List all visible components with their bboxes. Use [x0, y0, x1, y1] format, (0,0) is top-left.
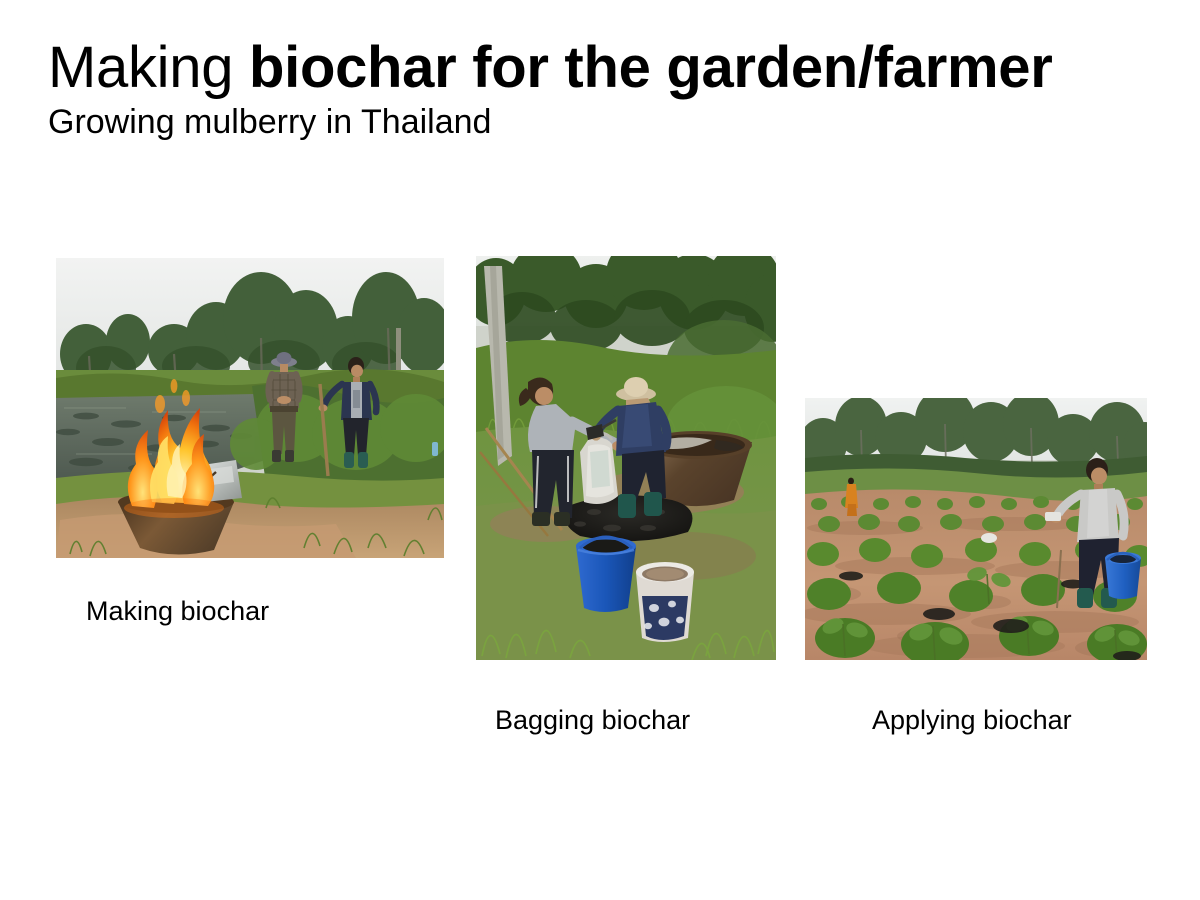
photo-bagging-biochar	[476, 256, 776, 660]
photo-bagging-blue-bucket	[576, 537, 636, 612]
page-title-bold-part: biochar for the garden/farmer	[249, 35, 1052, 100]
page-subtitle: Growing mulberry in Thailand	[48, 105, 1148, 141]
photo-making-biochar	[56, 258, 444, 558]
photo-bagging-white-pail	[636, 562, 694, 642]
page-title-light-part: Making	[48, 35, 249, 100]
photo-applying-bucket	[1105, 552, 1141, 599]
page-title: Making biochar for the garden/farmer	[48, 38, 1148, 97]
caption-making-biochar: Making biochar	[86, 596, 269, 627]
photo-making-biochar-image	[56, 258, 444, 558]
photo-bagging-biochar-image	[476, 256, 776, 660]
caption-bagging-biochar: Bagging biochar	[495, 705, 690, 736]
title-block: Making biochar for the garden/farmer Gro…	[48, 38, 1148, 141]
photo-applying-biochar	[805, 398, 1147, 660]
photo-applying-biochar-image	[805, 398, 1147, 660]
caption-applying-biochar: Applying biochar	[872, 705, 1072, 736]
